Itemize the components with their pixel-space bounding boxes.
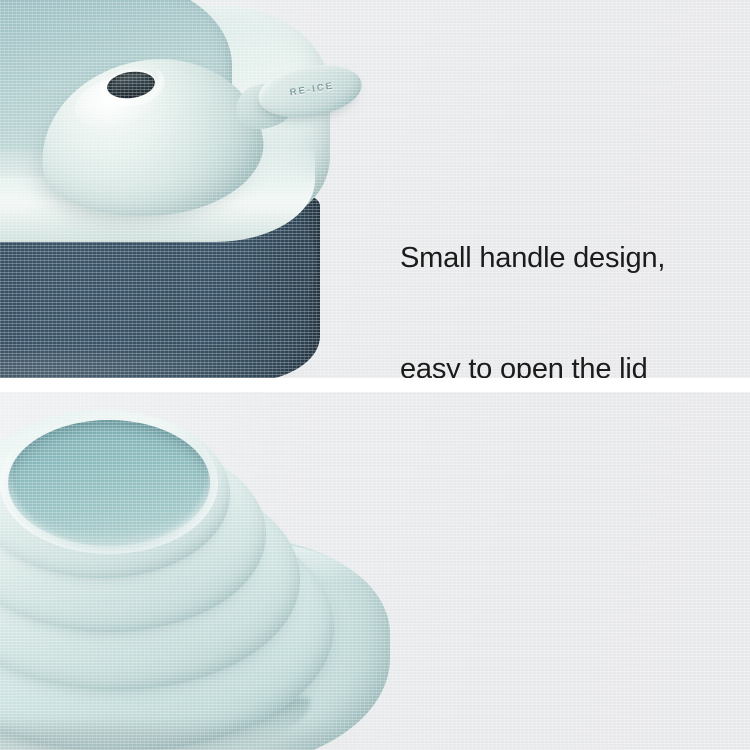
product-feature-image: RE-ICE Small handle design, easy to open… bbox=[0, 0, 750, 750]
panel-small-handle-design: RE-ICE Small handle design, easy to open… bbox=[0, 0, 750, 378]
caption-line-1: Small handle design, bbox=[400, 240, 665, 277]
panel-divider bbox=[0, 378, 750, 392]
cup-cavity-rim-highlight bbox=[0, 412, 218, 554]
panel-raised-edge: Raise the edge to prevent overflow bbox=[0, 392, 750, 750]
caption-small-handle-design: Small handle design, easy to open the li… bbox=[400, 166, 665, 378]
product-photo-bottom bbox=[0, 392, 750, 750]
caption-line-2: easy to open the lid bbox=[400, 351, 665, 378]
